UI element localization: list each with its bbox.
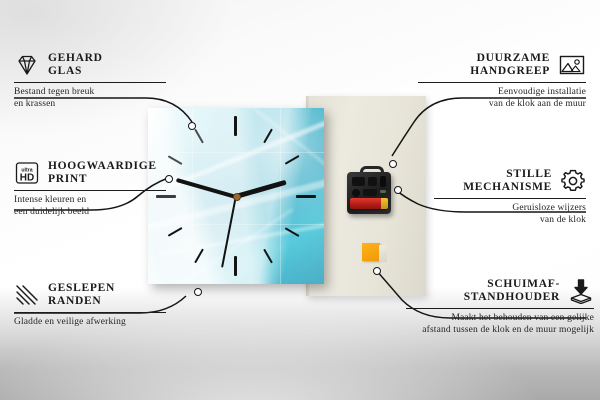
feature-desc-line1: Maakt het behouden van een gelijke [406,313,594,325]
ultra-hd-icon-big-label: HD [20,172,34,183]
callout-dot-hoogwaardige-print [165,175,173,183]
feature-hoogwaardige-print: ultra HD HOOGWAARDIGE PRINT Intense kleu… [14,160,166,218]
feature-stille-mechanisme: STILLE MECHANISME Geruisloze wijzers van… [434,168,586,226]
product-feature-infographic: GEHARD GLAS Bestand tegen breuk en krass… [0,0,600,400]
feature-desc-line2: een duidelijk beeld [14,207,166,219]
feature-desc-line1: Eenvoudige installatie [418,87,586,99]
feature-title-line2: GLAS [48,65,103,78]
feature-duurzame-handgreep: DUURZAME HANDGREEP Eenvoudige installati… [418,52,586,110]
callout-dot-gehard-glas [188,122,196,130]
feature-title-line1: DUURZAME [470,52,550,65]
feature-title-line2: HANDGREEP [470,65,550,78]
feature-desc-line1: Geruisloze wijzers [434,203,586,215]
picture-frame-icon [558,53,586,77]
feature-desc-line2: van de klok aan de muur [418,99,586,111]
callout-dot-geslepen-randen [194,288,202,296]
foam-spacer [362,243,380,261]
feature-title-line1: STILLE [463,168,552,181]
feature-desc-line1: Bestand tegen breuk [14,87,166,99]
hour-tick-6 [234,256,237,276]
feature-desc-line1: Intense kleuren en [14,195,166,207]
feature-title-line2: RANDEN [48,295,115,308]
feature-gehard-glas: GEHARD GLAS Bestand tegen breuk en krass… [14,52,166,110]
feature-divider [406,308,594,309]
callout-dot-duurzame-handgreep [389,160,397,168]
battery-positive-terminal [381,198,388,209]
feature-divider [14,312,166,313]
gear-icon [560,168,586,194]
feature-geslepen-randen: GESLEPEN RANDEN Gladde en veilige afwerk… [14,282,166,329]
hour-tick-3 [296,195,316,198]
feature-divider [14,190,166,191]
feature-title-line2: MECHANISME [463,181,552,194]
feature-title-line1: GESLEPEN [48,282,115,295]
feature-title-line1: GEHARD [48,52,103,65]
callout-dot-stille-mechanisme [394,186,402,194]
callout-dot-schuimafstandhouder [373,267,381,275]
feature-desc-line2: en krassen [14,99,166,111]
feature-title-line2: STANDHOUDER [464,291,560,304]
feature-title-line2: PRINT [48,173,157,186]
feature-desc-line2: afstand tussen de klok en de muur mogeli… [406,325,594,337]
feature-desc-line2: van de klok [434,215,586,227]
foam-spacer-side [379,245,387,262]
hour-tick-12 [234,116,237,136]
wall-clock [148,108,324,284]
ultra-hd-icon: ultra HD [14,161,40,185]
feature-schuimafstandhouder: SCHUIMAF- STANDHOUDER Maakt het behouden… [406,278,594,336]
feature-title-line1: HOOGWAARDIGE [48,160,157,173]
feature-divider [434,198,586,199]
press-down-arrow-icon [568,278,594,304]
feature-divider [14,82,166,83]
feature-title-line1: SCHUIMAF- [464,278,560,291]
feature-divider [418,82,586,83]
diamond-icon [14,54,40,76]
clock-center-cap [233,193,241,201]
bevelled-edges-icon [14,284,40,306]
feature-desc-line1: Gladde en veilige afwerking [14,317,166,329]
